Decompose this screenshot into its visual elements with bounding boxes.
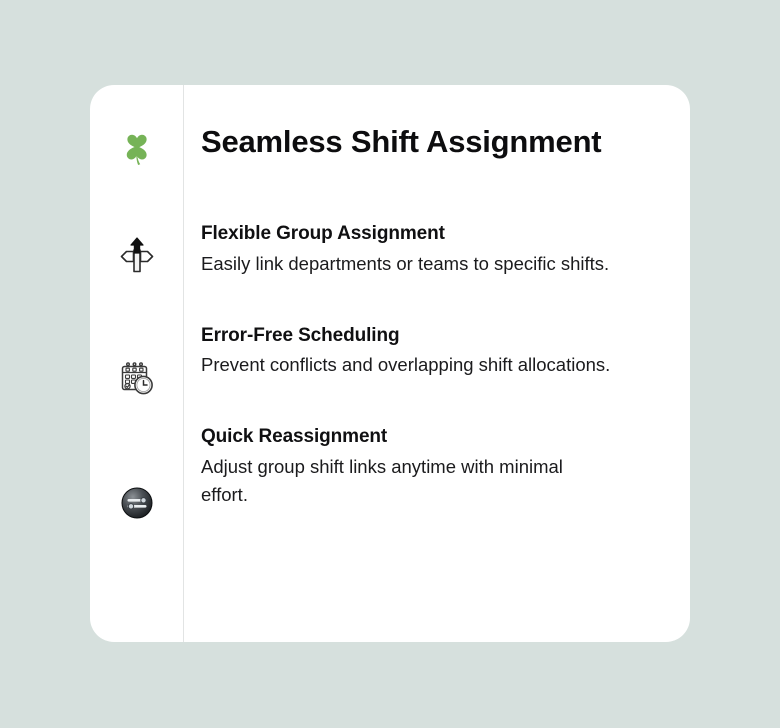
page-background: Seamless Shift Assignment Flexible Group… xyxy=(0,0,780,728)
list-item: Flexible Group Assignment Easily link de… xyxy=(201,222,660,278)
feature-list: Flexible Group Assignment Easily link de… xyxy=(201,222,660,510)
feature-description: Prevent conflicts and overlapping shift … xyxy=(201,351,611,380)
page-title: Seamless Shift Assignment xyxy=(201,125,660,159)
three-way-direction-signpost-icon xyxy=(90,233,184,277)
list-item: Error-Free Scheduling Prevent conflicts … xyxy=(201,324,660,380)
calendar-clock-icon xyxy=(90,357,184,401)
card-content: Seamless Shift Assignment Flexible Group… xyxy=(184,85,690,642)
feature-title: Quick Reassignment xyxy=(201,425,660,449)
icon-rail xyxy=(90,85,184,642)
feature-description: Easily link departments or teams to spec… xyxy=(201,250,611,279)
list-item: Quick Reassignment Adjust group shift li… xyxy=(201,425,660,510)
four-leaf-clover-icon xyxy=(90,127,184,171)
feature-title: Flexible Group Assignment xyxy=(201,222,660,246)
control-knobs-icon xyxy=(90,481,184,525)
feature-card: Seamless Shift Assignment Flexible Group… xyxy=(90,85,690,642)
feature-title: Error-Free Scheduling xyxy=(201,324,660,348)
feature-description: Adjust group shift links anytime with mi… xyxy=(201,453,611,510)
